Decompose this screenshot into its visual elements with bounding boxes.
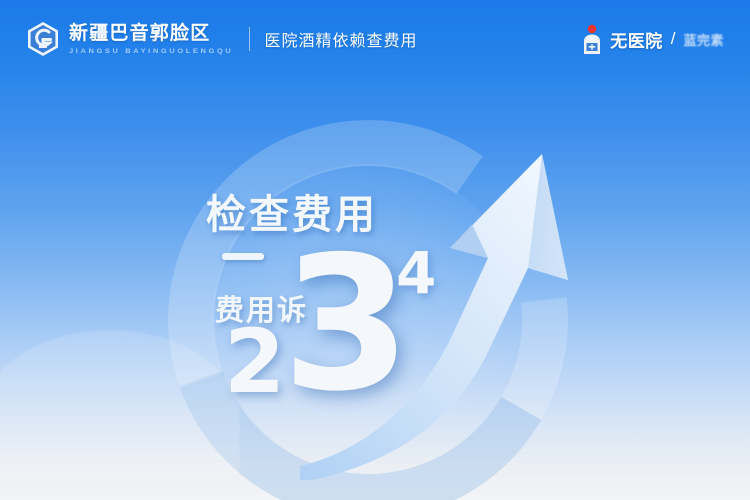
header-divider (249, 27, 250, 51)
brand-name-en: JIANGSU BAYINGUOLENGQU (69, 47, 233, 54)
page-header: 新疆巴音郭脸区 JIANGSU BAYINGUOLENGQU 医院酒精依赖查费用… (0, 0, 750, 78)
hospital-person-icon (581, 24, 603, 54)
hero-number-superscript: 4 (396, 244, 436, 302)
brand-text-block: 新疆巴音郭脸区 JIANGSU BAYINGUOLENGQU (69, 24, 233, 55)
partner-separator: / (671, 29, 676, 49)
hero-number-center: 3 (282, 232, 411, 417)
partner-subname: 蓝完素 (683, 30, 724, 49)
banner-root: 新疆巴音郭脸区 JIANGSU BAYINGUOLENGQU 医院酒精依赖查费用… (0, 0, 750, 500)
brand-logo[interactable]: 新疆巴音郭脸区 JIANGSU BAYINGUOLENGQU (26, 21, 233, 57)
partner-logo[interactable]: 无医院 / 蓝完素 (581, 24, 724, 54)
partner-name: 无医院 (610, 27, 663, 52)
hero-number-left: 2 (224, 318, 285, 406)
header-subtitle: 医院酒精依赖查费用 (264, 27, 417, 51)
brand-name-cn: 新疆巴音郭脸区 (69, 24, 233, 43)
hero-dash (222, 253, 264, 260)
hexagon-badge-icon (26, 21, 60, 57)
decorative-blob (0, 330, 240, 480)
